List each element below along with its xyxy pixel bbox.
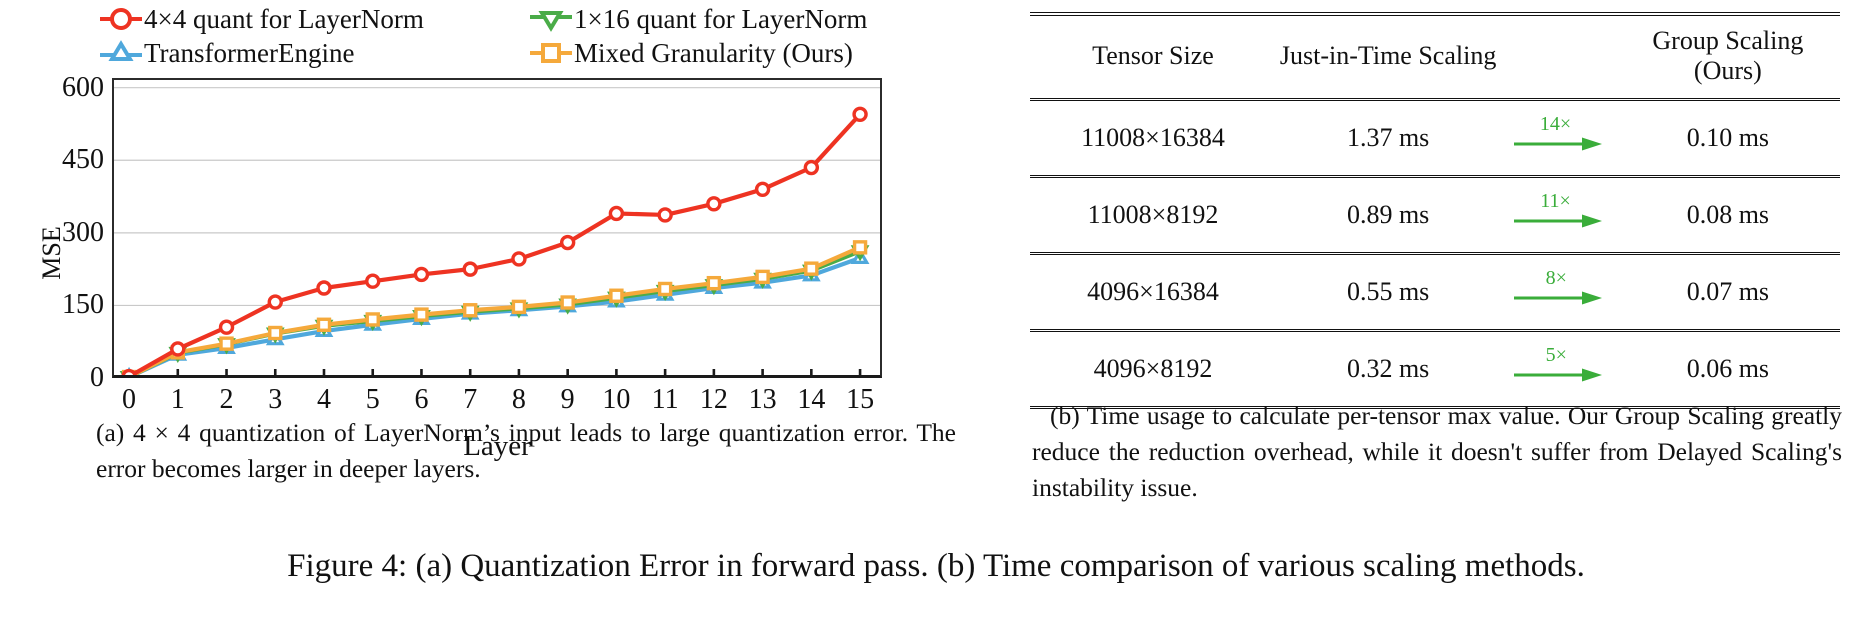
legend-item-3: Mixed Granularity (Ours): [528, 38, 853, 68]
speedup-label: 14×: [1540, 113, 1571, 136]
subfigure-b: Tensor SizeJust-in-Time ScalingGroup Sca…: [1010, 0, 1872, 500]
speedup-arrow: 8×: [1500, 269, 1615, 315]
legend-label-0: 4×4 quant for LayerNorm: [144, 4, 424, 34]
x-tick-label: 13: [749, 386, 777, 414]
table-cell-tensor-size: 4096×8192: [1030, 331, 1276, 408]
table-cell-tensor-size: 11008×8192: [1030, 177, 1276, 254]
table-cell-tensor-size: 4096×16384: [1030, 254, 1276, 331]
y-tick-label: 0: [18, 364, 104, 392]
speedup-arrow: 14×: [1500, 115, 1615, 161]
x-tick-label: 3: [268, 386, 282, 414]
arrow-right-icon: [1510, 212, 1606, 230]
subcaption-b-text: (b) Time usage to calculate per-tensor m…: [1032, 401, 1842, 502]
table-header-row: Tensor SizeJust-in-Time ScalingGroup Sca…: [1030, 14, 1840, 100]
table-cell-group-scaling: 0.08 ms: [1616, 177, 1840, 254]
y-axis-ticks: 0150300450600: [0, 78, 104, 378]
table-cell-tensor-size: 11008×16384: [1030, 100, 1276, 177]
x-tick-label: 14: [797, 386, 825, 414]
legend-label-1: TransformerEngine: [144, 38, 354, 68]
speedup-label: 11×: [1540, 190, 1571, 213]
table-cell-speedup: 8×: [1500, 254, 1615, 331]
table-cell-group-scaling: 0.06 ms: [1616, 331, 1840, 408]
figure-root: 4×4 quant for LayerNorm TransformerEngin…: [0, 0, 1872, 637]
x-tick-label: 0: [122, 386, 136, 414]
x-tick-label: 1: [171, 386, 185, 414]
speedup-label: 5×: [1546, 344, 1567, 367]
subcaption-a: (a) 4 × 4 quantization of LayerNorm’s in…: [96, 415, 956, 487]
arrow-right-icon: [1510, 135, 1606, 153]
table-cell-jit-scaling: 0.89 ms: [1276, 177, 1500, 254]
table-row: 4096×81920.32 ms5×0.06 ms: [1030, 331, 1840, 408]
y-tick-label: 150: [18, 291, 104, 319]
y-tick-label: 450: [18, 146, 104, 174]
x-tick-label: 11: [652, 386, 679, 414]
speedup-arrow: 11×: [1500, 192, 1615, 238]
table-cell-jit-scaling: 0.55 ms: [1276, 254, 1500, 331]
timing-table: Tensor SizeJust-in-Time ScalingGroup Sca…: [1030, 12, 1840, 409]
x-tick-label: 6: [414, 386, 428, 414]
subcaption-b: (b) Time usage to calculate per-tensor m…: [1032, 398, 1842, 507]
square-marker-icon: [528, 38, 574, 68]
table-row: 11008×81920.89 ms11×0.08 ms: [1030, 177, 1840, 254]
legend-item-2: 1×16 quant for LayerNorm: [528, 4, 867, 34]
table-row: 4096×163840.55 ms8×0.07 ms: [1030, 254, 1840, 331]
legend-item-0: 4×4 quant for LayerNorm: [98, 4, 424, 34]
x-tick-label: 10: [602, 386, 630, 414]
figure-caption: Figure 4: (a) Quantization Error in forw…: [0, 548, 1872, 585]
x-tick-label: 9: [561, 386, 575, 414]
table-row: 11008×163841.37 ms14×0.10 ms: [1030, 100, 1840, 177]
legend-label-3: Mixed Granularity (Ours): [574, 38, 853, 68]
x-tick-label: 8: [512, 386, 526, 414]
x-tick-label: 4: [317, 386, 331, 414]
x-tick-label: 15: [846, 386, 874, 414]
table-column-header: Tensor Size: [1030, 14, 1276, 100]
subfigure-a: 4×4 quant for LayerNorm TransformerEngin…: [0, 0, 1010, 500]
chart-legend: 4×4 quant for LayerNorm TransformerEngin…: [60, 2, 990, 70]
table-cell-speedup: 5×: [1500, 331, 1615, 408]
triangle-down-marker-icon: [528, 4, 574, 34]
speedup-arrow: 5×: [1500, 346, 1615, 392]
y-tick-label: 300: [18, 219, 104, 247]
triangle-up-marker-icon: [98, 38, 144, 68]
table-column-header: Group Scaling (Ours): [1616, 14, 1840, 100]
speedup-label: 8×: [1546, 267, 1567, 290]
plot-canvas: [112, 78, 882, 378]
chart-plot-area: MSE 0150300450600 0123456789101112131415…: [0, 78, 1010, 378]
legend-item-1: TransformerEngine: [98, 38, 354, 68]
arrow-right-icon: [1510, 289, 1606, 307]
table-cell-group-scaling: 0.07 ms: [1616, 254, 1840, 331]
legend-label-2: 1×16 quant for LayerNorm: [574, 4, 867, 34]
table-cell-jit-scaling: 1.37 ms: [1276, 100, 1500, 177]
table-cell-jit-scaling: 0.32 ms: [1276, 331, 1500, 408]
table-cell-speedup: 11×: [1500, 177, 1615, 254]
x-tick-label: 12: [700, 386, 728, 414]
table-cell-group-scaling: 0.10 ms: [1616, 100, 1840, 177]
y-tick-label: 600: [18, 74, 104, 102]
x-tick-label: 2: [220, 386, 234, 414]
arrow-right-icon: [1510, 366, 1606, 384]
x-tick-label: 5: [366, 386, 380, 414]
circle-marker-icon: [98, 4, 144, 34]
plot-frame: [112, 78, 882, 378]
table-cell-speedup: 14×: [1500, 100, 1615, 177]
table-column-header: [1500, 14, 1615, 100]
table-column-header: Just-in-Time Scaling: [1276, 14, 1500, 100]
x-tick-label: 7: [463, 386, 477, 414]
